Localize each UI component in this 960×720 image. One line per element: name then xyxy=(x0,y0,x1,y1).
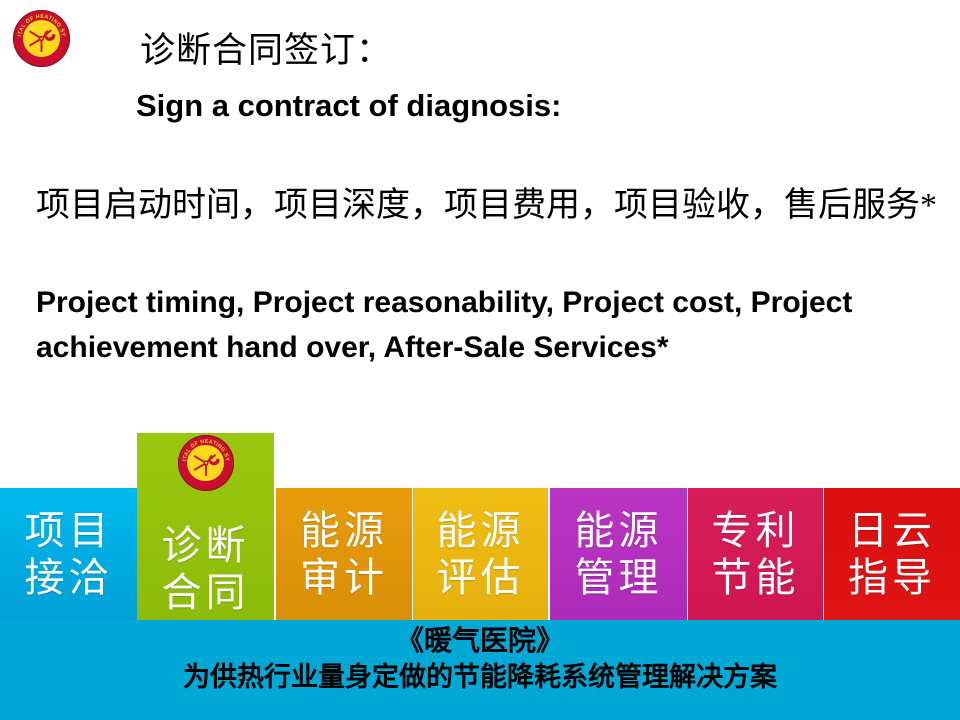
process-tile-label-line2: 合同 xyxy=(162,569,250,616)
process-tile-label-line1: 日云 xyxy=(848,507,936,554)
process-tile-7[interactable]: 日云指导 xyxy=(824,488,960,620)
process-tile-6[interactable]: 专利节能 xyxy=(688,488,823,620)
footer-subtitle: 为供热行业量身定做的节能降耗系统管理解决方案 xyxy=(0,662,960,693)
page-title-english: Sign a contract of diagnosis: xyxy=(136,88,561,124)
process-tile-label-line2: 评估 xyxy=(437,554,525,601)
process-tile-label-line2: 接洽 xyxy=(25,554,113,601)
process-tile-2[interactable]: HOSPITAL OF HEATING SYSTEM暖 气 医 院诊断合同 xyxy=(137,433,274,620)
process-tile-label-line1: 诊断 xyxy=(162,522,250,569)
process-tile-label-line1: 能源 xyxy=(300,507,388,554)
emblem-artwork: HOSPITAL OF HEATING SYSTEM 暖 气 医 院 xyxy=(13,10,70,67)
tile-heating-hospital-emblem-icon: HOSPITAL OF HEATING SYSTEM暖 气 医 院 xyxy=(178,435,234,491)
process-tile-label-line2: 指导 xyxy=(848,554,936,601)
heating-hospital-emblem-icon: HOSPITAL OF HEATING SYSTEM 暖 气 医 院 xyxy=(13,10,70,67)
svg-text:HOSPITAL OF HEATING SYSTEM: HOSPITAL OF HEATING SYSTEM xyxy=(13,10,66,37)
process-tile-1[interactable]: 项目接洽 xyxy=(0,488,137,620)
body-text-english: Project timing, Project reasonability, P… xyxy=(36,280,866,370)
process-tile-4[interactable]: 能源评估 xyxy=(413,488,548,620)
slide-canvas: HOSPITAL OF HEATING SYSTEM 暖 气 医 院 诊断合同签… xyxy=(0,0,960,720)
process-tile-5[interactable]: 能源管理 xyxy=(550,488,687,620)
process-tile-label-line1: 项目 xyxy=(25,507,113,554)
process-tile-3[interactable]: 能源审计 xyxy=(276,488,412,620)
process-tile-strip: 项目接洽HOSPITAL OF HEATING SYSTEM暖 气 医 院诊断合… xyxy=(0,488,960,620)
process-tile-label-line2: 审计 xyxy=(300,554,388,601)
footer-title: 《暖气医院》 xyxy=(0,626,960,658)
process-tile-label-line1: 能源 xyxy=(437,507,525,554)
process-tile-label-line2: 管理 xyxy=(575,554,663,601)
footer-banner: 《暖气医院》 为供热行业量身定做的节能降耗系统管理解决方案 xyxy=(0,620,960,720)
page-title-chinese: 诊断合同签订： xyxy=(140,31,392,71)
process-tile-label-line2: 节能 xyxy=(712,554,800,601)
process-tile-label-line1: 专利 xyxy=(712,507,800,554)
body-text-chinese: 项目启动时间，项目深度，项目费用，项目验收，售后服务* xyxy=(36,183,946,229)
process-tile-label-line1: 能源 xyxy=(575,507,663,554)
svg-text:HOSPITAL OF HEATING SYSTEM: HOSPITAL OF HEATING SYSTEM xyxy=(178,435,230,462)
